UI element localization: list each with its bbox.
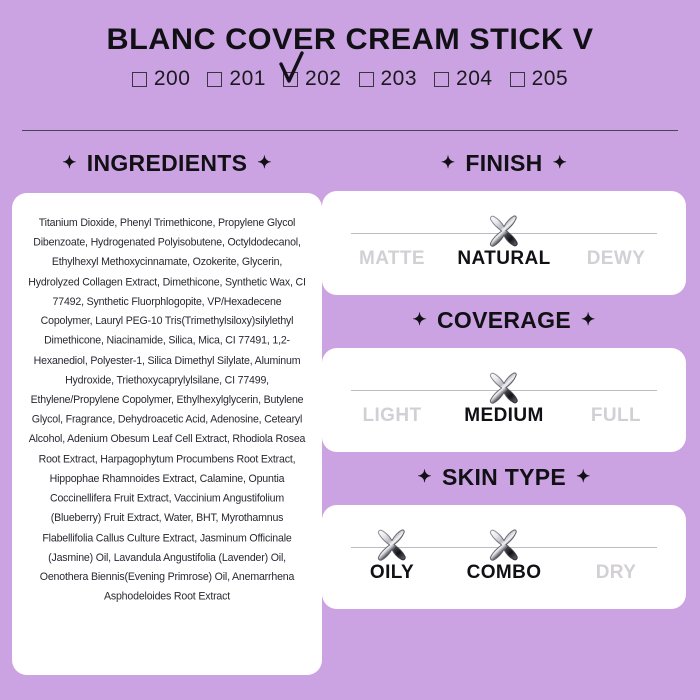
shade-number-label: 203 [381,67,418,91]
finish-option-dewy[interactable]: DEWY [560,248,672,270]
shade-option-204[interactable]: 204 [434,67,493,91]
shade-number-label: 204 [456,67,493,91]
skin-type-heading: ✦ SKIN TYPE ✦ [322,460,686,494]
shade-option-205[interactable]: 205 [510,67,569,91]
content-columns: ✦ INGREDIENTS ✦ Titanium Dioxide, Phenyl… [0,146,700,700]
shade-option-201[interactable]: 201 [207,67,266,91]
coverage-slider-track[interactable] [351,390,657,391]
shade-number-label: 200 [154,67,191,91]
skin-type-option-oily[interactable]: OILY [336,562,448,584]
shade-checkbox-201[interactable] [207,72,222,87]
shade-checkbox-203[interactable] [359,72,374,87]
skin-type-card: OILYCOMBODRY [322,505,686,609]
shade-checkbox-202[interactable] [283,72,298,87]
coverage-option-medium[interactable]: MEDIUM [448,405,560,427]
sparkle-icon: ✦ [412,311,427,328]
page-header: BLANC COVER CREAM STICK V 20020120220320… [0,0,700,91]
shade-selector-row: 200201202203204205 [0,67,700,91]
sparkle-icon: ✦ [576,468,591,485]
skin-type-option-dry[interactable]: DRY [560,562,672,584]
ingredients-text: Titanium Dioxide, Phenyl Trimethicone, P… [26,213,308,607]
finish-options: MATTENATURALDEWY [336,248,672,270]
sparkle-icon: ✦ [257,154,272,171]
ingredients-column: ✦ INGREDIENTS ✦ Titanium Dioxide, Phenyl… [12,146,322,700]
coverage-heading: ✦ COVERAGE ✦ [322,303,686,337]
shade-option-203[interactable]: 203 [359,67,418,91]
coverage-heading-label: COVERAGE [437,307,571,334]
coverage-card: LIGHTMEDIUMFULL [322,348,686,452]
sparkle-icon: ✦ [417,468,432,485]
page-title: BLANC COVER CREAM STICK V [0,24,700,56]
ingredients-heading: ✦ INGREDIENTS ✦ [12,146,322,180]
finish-heading-label: FINISH [465,150,542,177]
finish-slider-track[interactable] [351,233,657,234]
coverage-option-full[interactable]: FULL [560,405,672,427]
sparkle-icon: ✦ [581,311,596,328]
skin-type-option-combo[interactable]: COMBO [448,562,560,584]
shade-option-202[interactable]: 202 [283,67,342,91]
shade-number-label: 202 [305,67,342,91]
coverage-option-light[interactable]: LIGHT [336,405,448,427]
shade-option-200[interactable]: 200 [132,67,191,91]
attributes-column: ✦ FINISH ✦ MATTENATURALDEWY ✦ COVERAGE ✦… [322,146,686,700]
skin-type-options: OILYCOMBODRY [336,562,672,584]
sparkle-icon: ✦ [441,154,456,171]
shade-checkbox-200[interactable] [132,72,147,87]
header-divider [22,130,678,131]
coverage-options: LIGHTMEDIUMFULL [336,405,672,427]
finish-heading: ✦ FINISH ✦ [322,146,686,180]
shade-checkbox-204[interactable] [434,72,449,87]
skin-type-heading-label: SKIN TYPE [442,464,566,491]
sparkle-icon: ✦ [62,154,77,171]
shade-number-label: 205 [532,67,569,91]
shade-number-label: 201 [229,67,266,91]
skin-type-slider-track[interactable] [351,547,657,548]
sparkle-icon: ✦ [553,154,568,171]
ingredients-card: Titanium Dioxide, Phenyl Trimethicone, P… [12,193,322,675]
finish-option-matte[interactable]: MATTE [336,248,448,270]
finish-option-natural[interactable]: NATURAL [448,248,560,270]
ingredients-heading-label: INGREDIENTS [87,150,247,177]
shade-checkbox-205[interactable] [510,72,525,87]
finish-card: MATTENATURALDEWY [322,191,686,295]
